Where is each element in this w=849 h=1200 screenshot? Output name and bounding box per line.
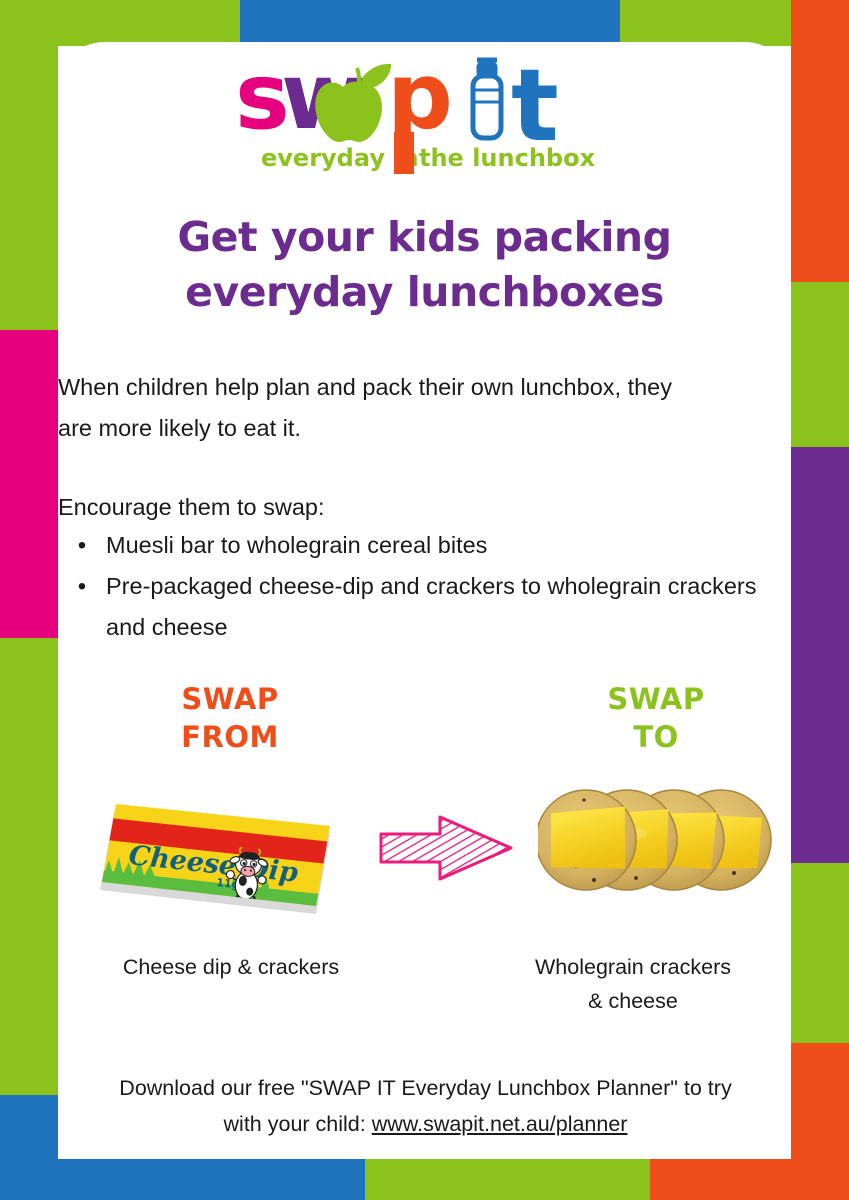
planner-link[interactable]: www.swapit.net.au/planner <box>372 1112 628 1136</box>
headline-line-1: Get your kids packing <box>58 210 791 265</box>
intro-line-1: When children help plan and pack their o… <box>58 367 773 408</box>
frame-left-green-top <box>0 0 58 330</box>
frame-bottom-green <box>365 1159 650 1200</box>
logo-tagline-right: the lunchbox <box>419 144 596 172</box>
footer-line-1: Download our free "SWAP IT Everyday Lunc… <box>68 1070 783 1106</box>
cheese-dip-package-image: Cheese Dip 11g <box>80 778 350 928</box>
wholegrain-crackers-cheese-image <box>538 770 778 910</box>
logo-p-descender <box>394 132 414 174</box>
bullet-text: Muesli bar to wholegrain cereal bites <box>106 525 773 566</box>
cracker-1 <box>538 790 636 890</box>
page-title: Get your kids packing everyday lunchboxe… <box>58 210 791 320</box>
headline-line-2: everyday lunchboxes <box>58 265 791 320</box>
swap-from-caption: Cheese dip & crackers <box>66 950 396 984</box>
bullet-dot-icon: • <box>58 566 106 607</box>
frame-left-green-bot <box>0 638 58 1095</box>
frame-right-orange-top <box>791 0 849 282</box>
water-bottle-icon <box>473 60 501 138</box>
swap-to-line-2: TO <box>558 718 754 756</box>
footer-line-2: with your child: www.swapit.net.au/plann… <box>68 1106 783 1142</box>
swap-bullet-list: • Muesli bar to wholegrain cereal bites … <box>58 525 773 648</box>
frame-right-green-top <box>791 282 849 447</box>
poster-root: s w p t <box>0 0 849 1200</box>
intro-line-2: are more likely to eat it. <box>58 408 773 449</box>
frame-bottom-orange <box>650 1159 849 1200</box>
swap-to-caption-line-1: Wholegrain crackers <box>483 950 783 984</box>
list-item: • Pre-packaged cheese-dip and crackers t… <box>58 566 773 648</box>
footer-callout: Download our free "SWAP IT Everyday Lunc… <box>68 1070 783 1142</box>
encourage-label: Encourage them to swap: <box>58 487 658 528</box>
bullet-dot-icon: • <box>58 525 106 566</box>
frame-top-green-right <box>620 0 800 46</box>
swap-to-caption: Wholegrain crackers & cheese <box>483 950 783 1018</box>
swap-to-heading: SWAP TO <box>558 680 754 756</box>
frame-right-purple <box>791 447 849 863</box>
intro-paragraph: When children help plan and pack their o… <box>58 367 773 449</box>
frame-top-blue <box>240 0 620 46</box>
frame-left-pink <box>0 330 58 638</box>
footer-line-2-prefix: with your child: <box>224 1112 372 1136</box>
swap-to-caption-line-2: & cheese <box>483 984 783 1018</box>
swap-it-logo-graphic: s w p t <box>233 50 623 175</box>
swap-from-line-1: SWAP <box>132 680 328 718</box>
swap-to-line-1: SWAP <box>558 680 754 718</box>
bullet-text: Pre-packaged cheese-dip and crackers to … <box>106 566 773 648</box>
swap-from-heading: SWAP FROM <box>132 680 328 756</box>
swap-from-caption-text: Cheese dip & crackers <box>66 950 396 984</box>
swap-it-logo: s w p t <box>58 42 791 177</box>
swap-images-row: Cheese Dip 11g <box>58 760 791 940</box>
swap-arrow-icon <box>378 808 518 888</box>
list-item: • Muesli bar to wholegrain cereal bites <box>58 525 773 566</box>
swap-from-line-2: FROM <box>132 718 328 756</box>
frame-bottom-blue <box>0 1159 365 1200</box>
frame-right-green-bot <box>791 863 849 1043</box>
